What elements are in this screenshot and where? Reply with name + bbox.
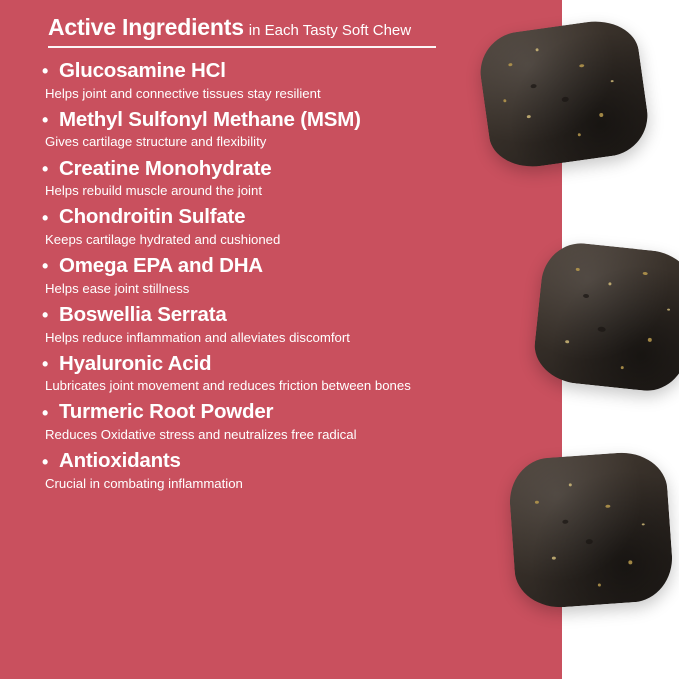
ingredient-description: Lubricates joint movement and reduces fr… — [45, 377, 542, 394]
bullet-icon: • — [42, 353, 59, 376]
ingredient-name-row: •Methyl Sulfonyl Methane (MSM) — [42, 107, 542, 133]
page-title: Active Ingredients — [48, 14, 244, 40]
ingredient-name: Turmeric Root Powder — [59, 400, 273, 423]
header-line: Active Ingredientsin Each Tasty Soft Che… — [48, 14, 528, 41]
list-item: •Boswellia Serrata Helps reduce inflamma… — [42, 302, 542, 346]
ingredient-name-row: •Omega EPA and DHA — [42, 253, 542, 279]
bullet-icon: • — [42, 402, 59, 425]
product-ingredients-infographic: Active Ingredientsin Each Tasty Soft Che… — [0, 0, 679, 679]
ingredient-description: Gives cartilage structure and flexibilit… — [45, 133, 542, 150]
ingredients-content: Active Ingredientsin Each Tasty Soft Che… — [0, 0, 562, 679]
ingredient-name: Hyaluronic Acid — [59, 352, 211, 375]
ingredient-description: Reduces Oxidative stress and neutralizes… — [45, 426, 542, 443]
list-item: •Chondroitin Sulfate Keeps cartilage hyd… — [42, 204, 542, 248]
list-item: •Omega EPA and DHA Helps ease joint stil… — [42, 253, 542, 297]
ingredient-description: Helps reduce inflammation and alleviates… — [45, 329, 542, 346]
header-block: Active Ingredientsin Each Tasty Soft Che… — [48, 14, 528, 48]
bullet-icon: • — [42, 255, 59, 278]
header-divider — [48, 46, 436, 48]
ingredient-name: Methyl Sulfonyl Methane (MSM) — [59, 108, 361, 131]
ingredient-description: Keeps cartilage hydrated and cushioned — [45, 231, 542, 248]
bullet-icon: • — [42, 158, 59, 181]
list-item: •Creatine Monohydrate Helps rebuild musc… — [42, 156, 542, 200]
ingredient-description: Helps rebuild muscle around the joint — [45, 182, 542, 199]
ingredient-name: Creatine Monohydrate — [59, 157, 271, 180]
ingredient-description: Helps joint and connective tissues stay … — [45, 85, 542, 102]
list-item: •Methyl Sulfonyl Methane (MSM) Gives car… — [42, 107, 542, 151]
list-item: •Glucosamine HCl Helps joint and connect… — [42, 58, 542, 102]
bullet-icon: • — [42, 304, 59, 327]
ingredient-name: Antioxidants — [59, 449, 181, 472]
ingredients-list: •Glucosamine HCl Helps joint and connect… — [42, 58, 542, 497]
bullet-icon: • — [42, 60, 59, 83]
ingredient-name: Glucosamine HCl — [59, 59, 226, 82]
ingredient-name-row: •Hyaluronic Acid — [42, 351, 542, 377]
ingredient-name-row: •Chondroitin Sulfate — [42, 204, 542, 230]
bullet-icon: • — [42, 207, 59, 230]
list-item: •Hyaluronic Acid Lubricates joint moveme… — [42, 351, 542, 395]
ingredient-name: Omega EPA and DHA — [59, 254, 263, 277]
ingredient-name-row: •Antioxidants — [42, 448, 542, 474]
bullet-icon: • — [42, 451, 59, 474]
ingredient-name: Chondroitin Sulfate — [59, 205, 245, 228]
list-item: •Antioxidants Crucial in combating infla… — [42, 448, 542, 492]
ingredient-description: Helps ease joint stillness — [45, 280, 542, 297]
ingredient-name-row: •Boswellia Serrata — [42, 302, 542, 328]
ingredient-name-row: •Creatine Monohydrate — [42, 156, 542, 182]
ingredient-description: Crucial in combating inflammation — [45, 475, 542, 492]
list-item: •Turmeric Root Powder Reduces Oxidative … — [42, 399, 542, 443]
ingredient-name-row: •Turmeric Root Powder — [42, 399, 542, 425]
ingredient-name: Boswellia Serrata — [59, 303, 227, 326]
bullet-icon: • — [42, 109, 59, 132]
page-subtitle: in Each Tasty Soft Chew — [249, 22, 411, 39]
ingredient-name-row: •Glucosamine HCl — [42, 58, 542, 84]
